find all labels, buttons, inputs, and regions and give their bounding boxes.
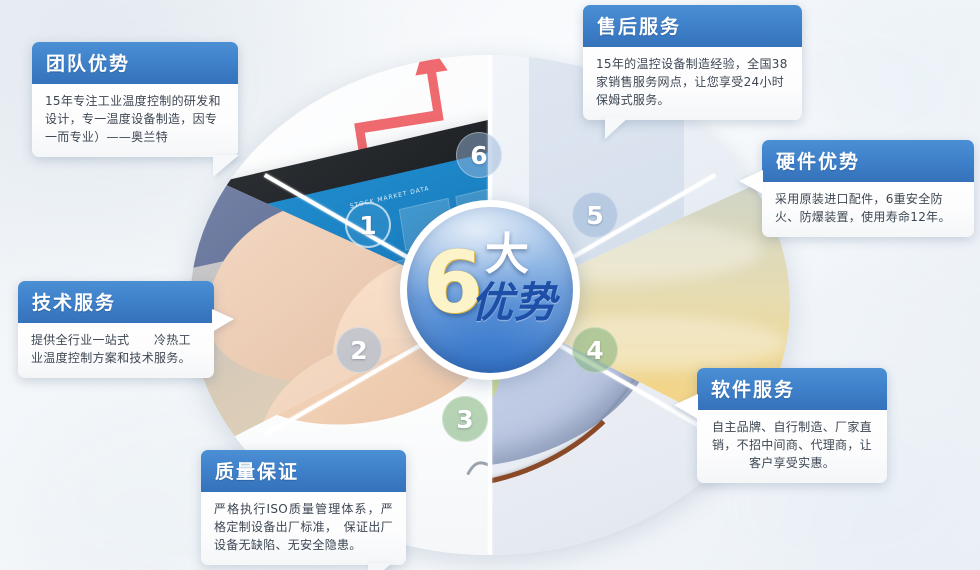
center-emblem-disc: 6 大 优势 <box>407 207 573 373</box>
emblem-advantage-word: 优势 <box>471 281 557 325</box>
card-team-tail <box>213 155 239 177</box>
segment-number-5[interactable]: 5 <box>572 192 618 238</box>
card-after-sales-body: 15年的温控设备制造经验，全国38家销售服务网点，让您享受24小时保姆式服务。 <box>583 47 802 120</box>
infographic-canvas: STOCK MARKET DATA INTC 440.86 <box>0 0 980 570</box>
card-software-body: 自主品牌、自行制造、厂家直销，不招中间商、代理商，让客户享受实惠。 <box>697 410 887 483</box>
segment-number-4[interactable]: 4 <box>572 327 618 373</box>
emblem-big-char: 大 <box>485 233 529 277</box>
card-team-title: 团队优势 <box>32 42 238 84</box>
center-emblem: 6 大 优势 <box>400 200 580 380</box>
card-technical-service[interactable]: 技术服务 提供全行业一站式 冷热工业温度控制方案和技术服务。 <box>18 281 214 378</box>
card-quality-title: 质量保证 <box>201 450 406 492</box>
card-team-advantage[interactable]: 团队优势 15年专注工业温度控制的研发和设计，专一温度设备制造，因专一而专业）—… <box>32 42 238 157</box>
card-after-sales-title: 售后服务 <box>583 5 802 47</box>
segment-number-3[interactable]: 3 <box>442 396 488 442</box>
card-quality-body: 严格执行ISO质量管理体系，严格定制设备出厂标准， 保证出厂设备无缺陷、无安全隐… <box>201 492 406 565</box>
card-software-tail <box>674 394 698 419</box>
card-team-body: 15年专注工业温度控制的研发和设计，专一温度设备制造，因专一而专业）——奥兰特 <box>32 84 238 157</box>
segment-number-6[interactable]: 6 <box>456 132 502 178</box>
card-quality-assurance[interactable]: 质量保证 严格执行ISO质量管理体系，严格定制设备出厂标准， 保证出厂设备无缺陷… <box>201 450 406 565</box>
card-software-title: 软件服务 <box>697 368 887 410</box>
card-hardware-tail <box>739 170 763 194</box>
card-hardware-title: 硬件优势 <box>762 140 974 182</box>
segment-number-1[interactable]: 1 <box>345 202 391 248</box>
card-technical-title: 技术服务 <box>18 281 214 323</box>
card-after-sales-tail <box>605 117 629 139</box>
card-software-service[interactable]: 软件服务 自主品牌、自行制造、厂家直销，不招中间商、代理商，让客户享受实惠。 <box>697 368 887 483</box>
segment-number-2[interactable]: 2 <box>336 327 382 373</box>
card-hardware-advantage[interactable]: 硬件优势 采用原装进口配件，6重安全防火、防爆装置，使用寿命12年。 <box>762 140 974 237</box>
card-hardware-body: 采用原装进口配件，6重安全防火、防爆装置，使用寿命12年。 <box>762 182 974 237</box>
card-after-sales-service[interactable]: 售后服务 15年的温控设备制造经验，全国38家销售服务网点，让您享受24小时保姆… <box>583 5 802 120</box>
card-technical-tail <box>212 309 234 332</box>
card-technical-body: 提供全行业一站式 冷热工业温度控制方案和技术服务。 <box>18 323 214 378</box>
card-quality-tail <box>368 563 392 570</box>
